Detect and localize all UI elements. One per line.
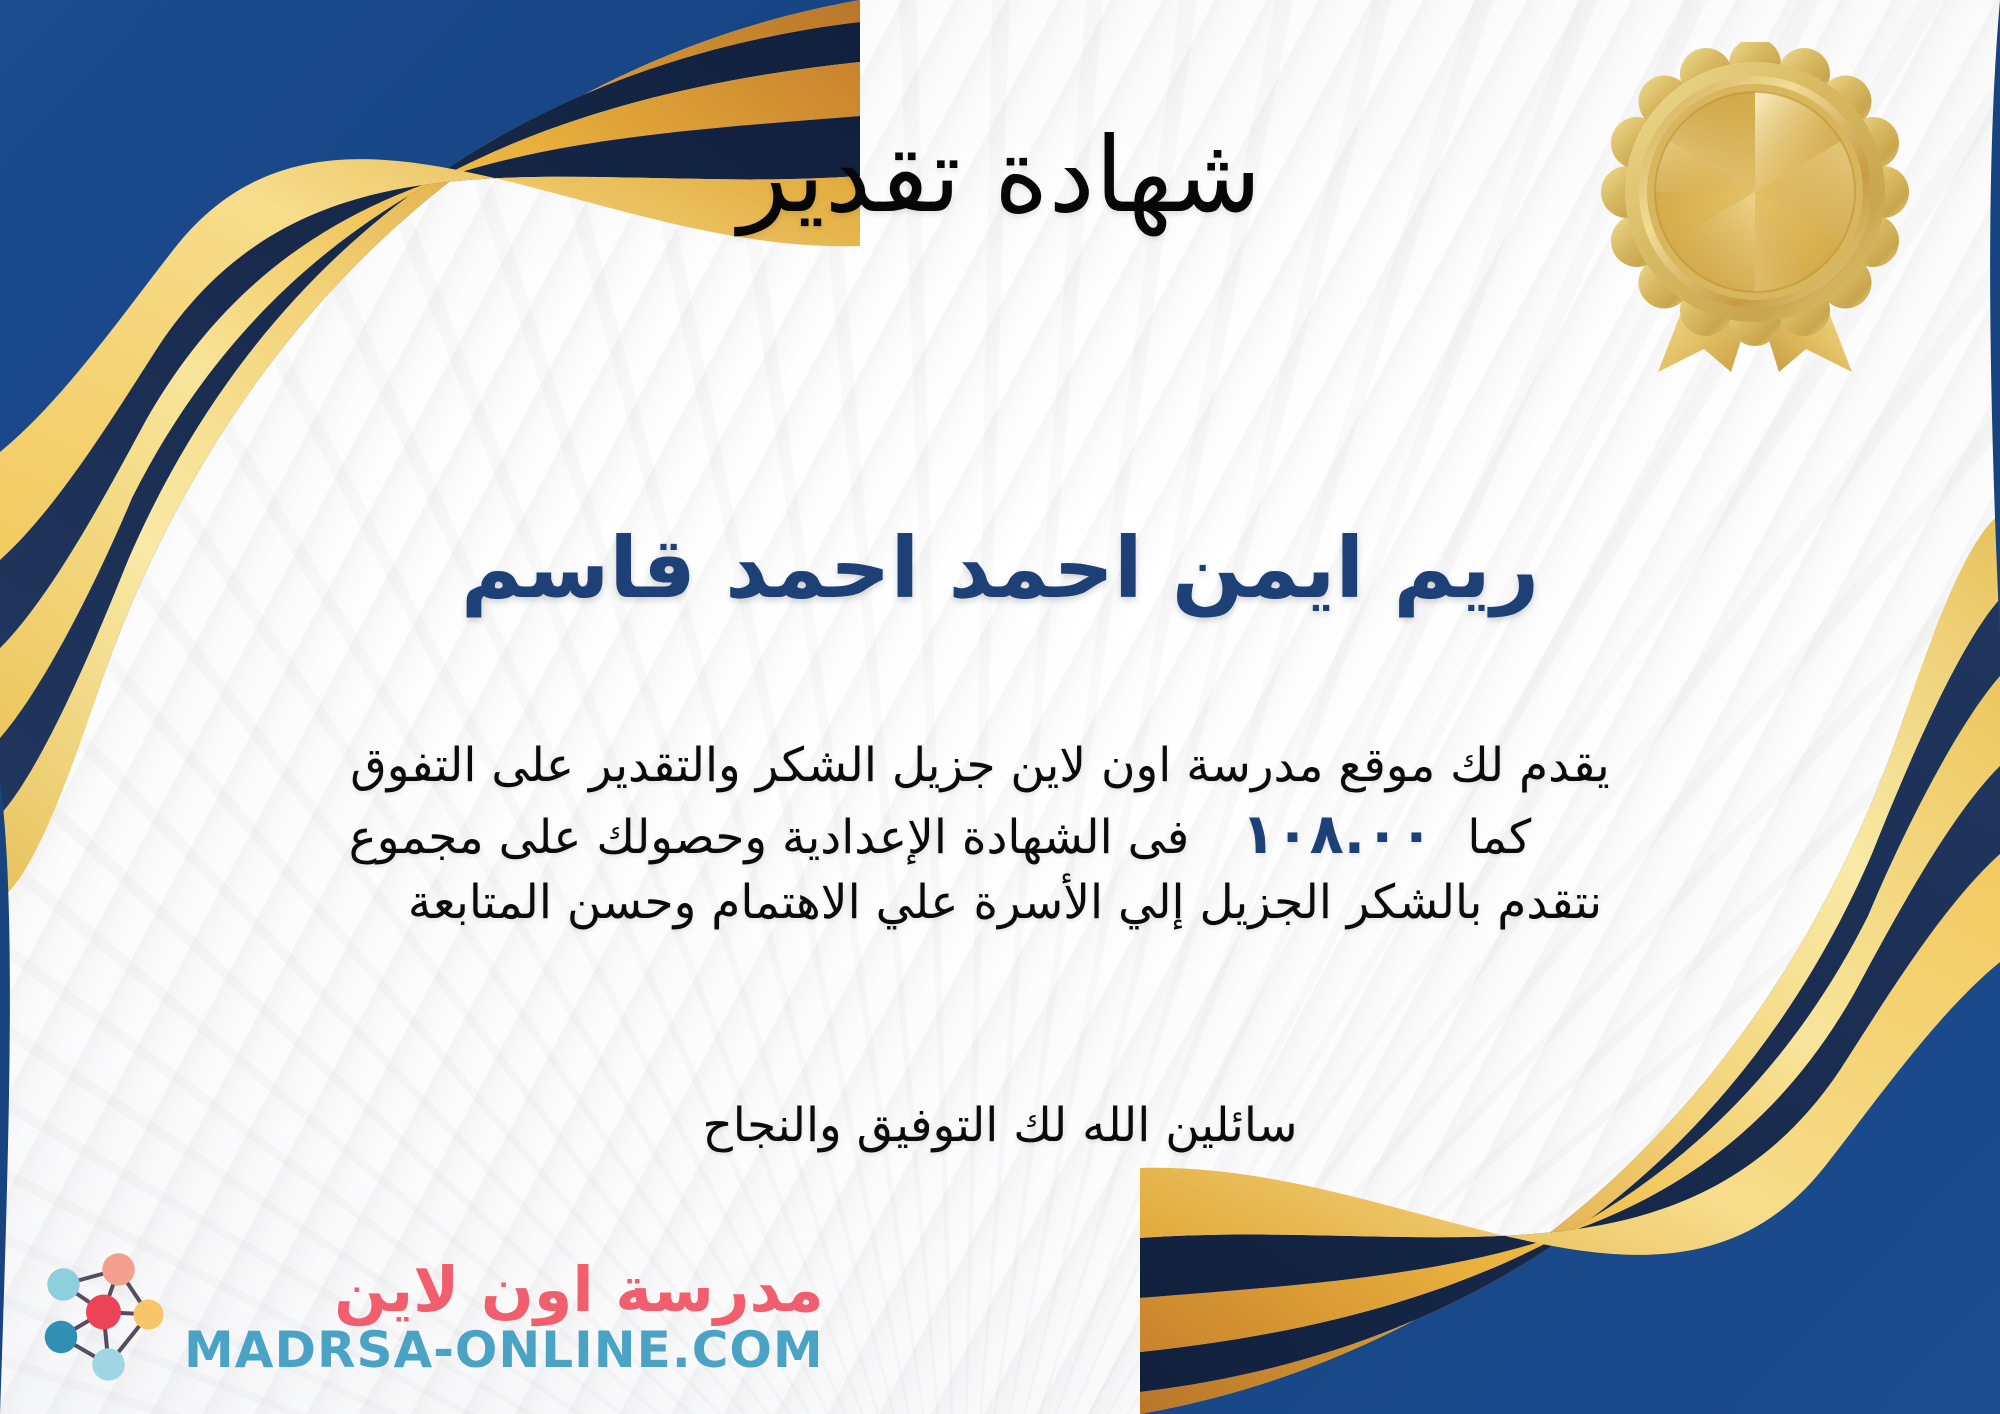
body-line-2-segment-a: كما	[1467, 807, 1651, 870]
body-line-2-segment-b: فى الشهادة الإعدادية وحصولك على مجموع	[349, 807, 1208, 870]
brand-website: MADRSA-ONLINE.COM	[184, 1325, 824, 1375]
brand-logo[interactable]: مدرسة اون لاين MADRSA-ONLINE.COM	[26, 1242, 824, 1392]
brand-arabic-name: مدرسة اون لاين	[334, 1259, 824, 1321]
recipient-name: ريم ايمن احمد احمد قاسم	[0, 520, 2000, 617]
certificate-canvas: شهادة تقدير ريم ايمن احمد احمد قاسم يقدم…	[0, 0, 2000, 1414]
closing-line: سائلين الله لك التوفيق والنجاح	[0, 1098, 2000, 1153]
total-score-value: ١٠٨.٠٠	[1207, 798, 1467, 872]
body-line-2: كما ١٠٨.٠٠ فى الشهادة الإعدادية وحصولك ع…	[70, 798, 1930, 872]
body-line-3: نتقدم بالشكر الجزيل إلي الأسرة علي الاهت…	[70, 872, 1930, 935]
network-nodes-icon	[26, 1242, 176, 1392]
brand-text-block: مدرسة اون لاين MADRSA-ONLINE.COM	[184, 1259, 824, 1375]
body-line-1: يقدم لك موقع مدرسة اون لاين جزيل الشكر و…	[70, 735, 1930, 798]
certificate-title: شهادة تقدير	[0, 118, 2000, 232]
certificate-body: يقدم لك موقع مدرسة اون لاين جزيل الشكر و…	[70, 735, 1930, 934]
